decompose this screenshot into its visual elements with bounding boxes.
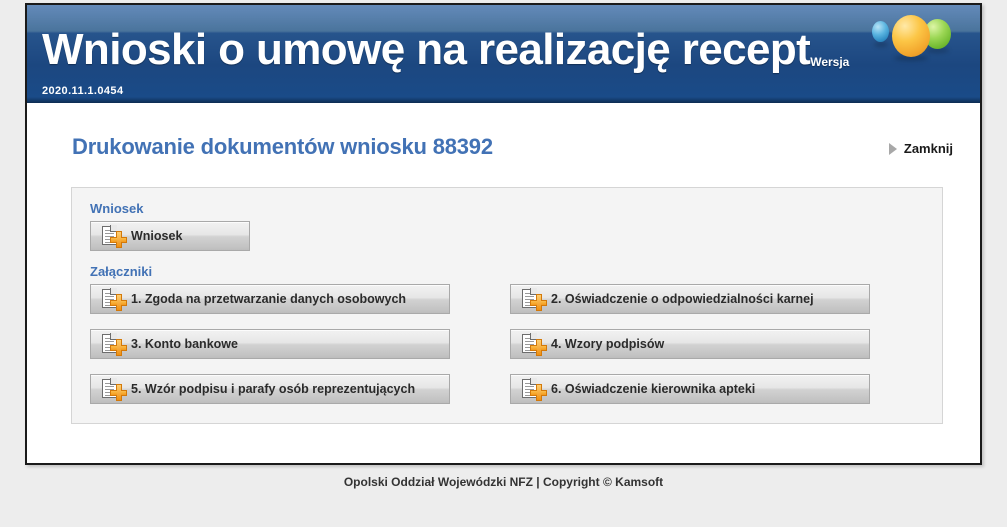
document-add-icon (101, 377, 127, 401)
plus-badge-icon (110, 231, 127, 248)
print-button-label: Wniosek (131, 229, 182, 243)
print-button-attachment-5[interactable]: 5. Wzór podpisu i parafy osób reprezentu… (90, 374, 450, 404)
plus-badge-icon (530, 384, 547, 401)
plus-badge-icon (530, 339, 547, 356)
print-button-label: 3. Konto bankowe (131, 337, 238, 351)
document-add-icon (521, 332, 547, 356)
triangle-right-icon (889, 143, 897, 155)
print-button-label: 4. Wzory podpisów (551, 337, 664, 351)
section-label-wniosek: Wniosek (90, 201, 143, 216)
print-button-attachment-6[interactable]: 6. Oświadczenie kierownika apteki (510, 374, 870, 404)
print-button-attachment-3[interactable]: 3. Konto bankowe (90, 329, 450, 359)
print-button-wniosek[interactable]: Wniosek (90, 221, 250, 251)
document-add-icon (101, 224, 127, 248)
plus-badge-icon (110, 384, 127, 401)
print-button-label: 5. Wzór podpisu i parafy osób reprezentu… (131, 382, 415, 396)
print-button-label: 6. Oświadczenie kierownika apteki (551, 382, 755, 396)
app-header-banner: Wnioski o umowę na realizację receptWers… (27, 5, 980, 103)
version-number: 2020.11.1.0454 (42, 85, 123, 97)
page-title: Drukowanie dokumentów wniosku 88392 (72, 134, 493, 160)
page-footer: Opolski Oddział Wojewódzki NFZ | Copyrig… (0, 475, 1007, 489)
documents-panel: Wniosek Załączniki Wniosek (71, 187, 943, 424)
kamsoft-logo (870, 9, 960, 59)
sphere-shadow-blue (874, 42, 888, 47)
print-button-label: 1. Zgoda na przetwarzanie danych osobowy… (131, 292, 406, 306)
print-button-attachment-1[interactable]: 1. Zgoda na przetwarzanie danych osobowy… (90, 284, 450, 314)
app-title-text: Wnioski o umowę na realizację recept (42, 25, 810, 74)
print-button-attachment-4[interactable]: 4. Wzory podpisów (510, 329, 870, 359)
app-title: Wnioski o umowę na realizację receptWers… (42, 25, 849, 85)
print-button-label: 2. Oświadczenie o odpowiedzialności karn… (551, 292, 814, 306)
document-add-icon (101, 332, 127, 356)
print-button-attachment-2[interactable]: 2. Oświadczenie o odpowiedzialności karn… (510, 284, 870, 314)
section-label-zalaczniki: Załączniki (90, 264, 152, 279)
document-add-icon (101, 287, 127, 311)
document-add-icon (521, 287, 547, 311)
plus-badge-icon (110, 294, 127, 311)
plus-badge-icon (530, 294, 547, 311)
main-content: Drukowanie dokumentów wniosku 88392 Zamk… (27, 103, 980, 463)
logo-sphere-orange-icon (892, 15, 930, 57)
logo-sphere-blue-icon (872, 21, 889, 42)
version-word: Wersja (810, 55, 849, 69)
document-add-icon (521, 377, 547, 401)
plus-badge-icon (110, 339, 127, 356)
close-button-label: Zamknij (904, 141, 953, 156)
application-window: Wnioski o umowę na realizację receptWers… (25, 3, 982, 465)
close-button[interactable]: Zamknij (889, 141, 953, 156)
